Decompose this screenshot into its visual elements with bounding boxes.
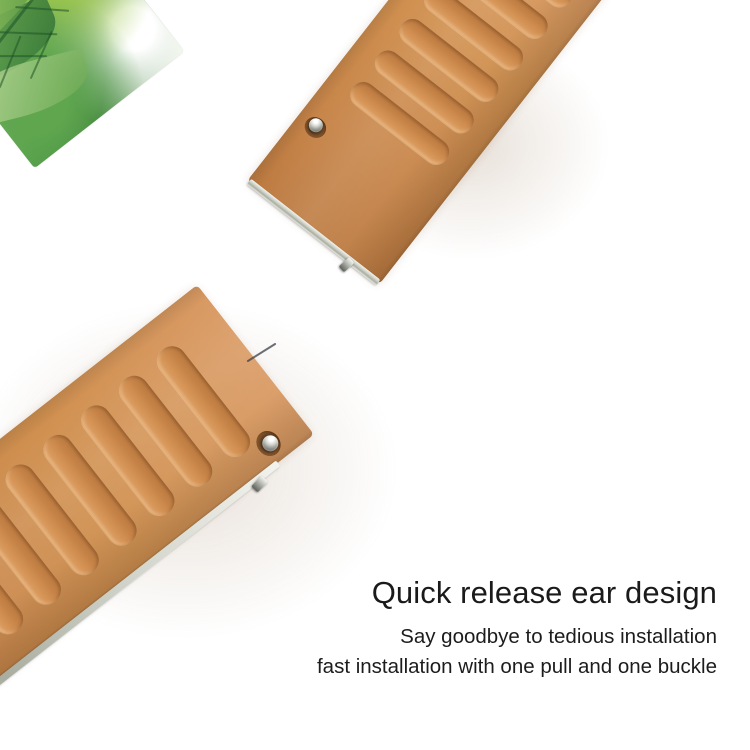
product-image-canvas: Quick release ear design Say goodbye to … [0,0,750,750]
subtitle-line-2: fast installation with one pull and one … [17,653,717,681]
page-title: Quick release ear design [17,574,717,612]
marketing-copy: Quick release ear design Say goodbye to … [17,574,717,681]
subtitle-line-1: Say goodbye to tedious installation [17,623,717,651]
tropical-leaf-print-band [0,0,184,168]
